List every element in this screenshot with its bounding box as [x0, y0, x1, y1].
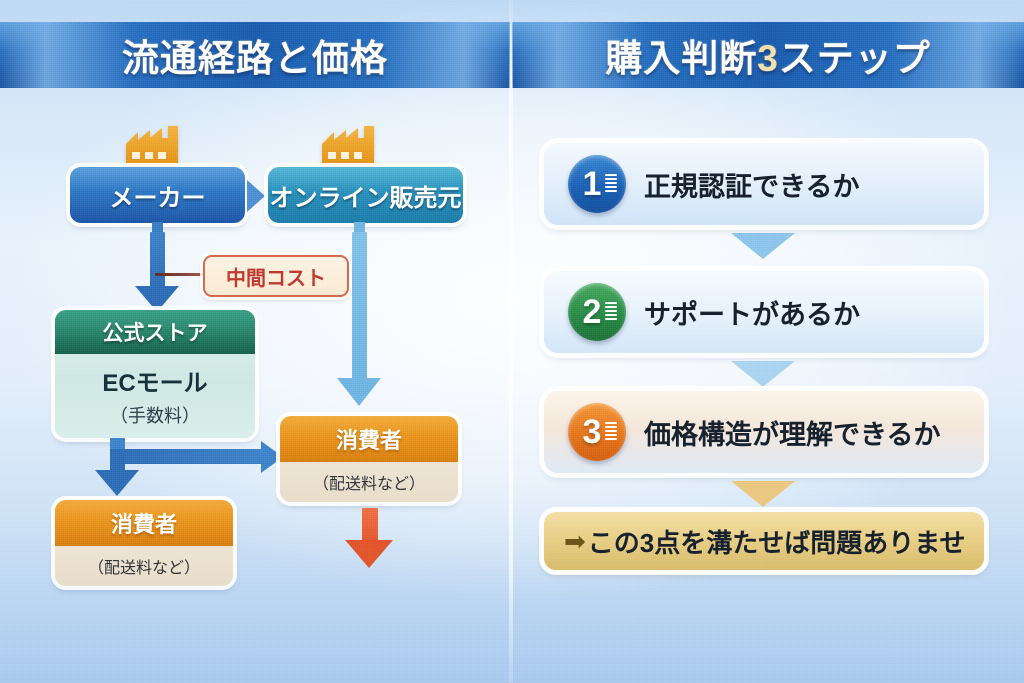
step-badge-1: 1 [568, 155, 626, 213]
step-number-3: 3 [583, 415, 602, 449]
step-connector-3 [731, 481, 795, 507]
node-online-seller[interactable]: オンライン販売元 [268, 167, 463, 223]
step-label-1: 正規認証できるか [644, 165, 859, 204]
node-consumer-online[interactable]: 消費者 （配送料など） [280, 416, 458, 502]
step-badge-2: 2 [568, 283, 626, 341]
node-ec-mall-header: 公式ストア [55, 310, 255, 354]
right-title-banner: 購入判断3ステップ [512, 22, 1024, 88]
middle-cost-chip[interactable]: 中間コスト [203, 255, 349, 297]
factory-icon [316, 124, 378, 168]
middle-cost-label: 中間コスト [226, 262, 326, 291]
node-maker-label: メーカー [70, 167, 245, 223]
step-number-1: 1 [583, 167, 602, 201]
node-consumer-online-header: 消費者 [280, 416, 458, 462]
step-connector-1 [731, 233, 795, 259]
left-title-banner: 流通経路と価格 [0, 22, 510, 88]
node-ec-mall[interactable]: 公式ストア ECモール （手数料） [55, 310, 255, 438]
arrow-maker-to-seller [247, 180, 265, 212]
node-ec-mall-main: ECモール [55, 363, 255, 398]
node-online-seller-label: オンライン販売元 [268, 167, 463, 223]
step-number-2: 2 [583, 295, 602, 329]
node-ec-mall-sub: （手数料） [55, 402, 255, 428]
step-connector-2 [731, 361, 795, 387]
middle-cost-connector [155, 273, 205, 276]
step-label-3: 価格構造が理解できるか [644, 413, 940, 452]
document-lines-icon [605, 174, 617, 192]
right-title-number: 3 [757, 38, 779, 79]
node-maker[interactable]: メーカー [70, 167, 245, 223]
step-badge-3: 3 [568, 403, 626, 461]
document-lines-icon [605, 302, 617, 320]
node-consumer-store[interactable]: 消費者 （配送料など） [55, 500, 233, 586]
panel-divider [509, 0, 513, 683]
right-title-prefix: 購入判断 [605, 38, 757, 79]
node-consumer-store-header: 消費者 [55, 500, 233, 546]
step-card-3[interactable]: 3 価格構造が理解できるか [544, 391, 984, 473]
step-label-2: サポートがあるか [644, 293, 860, 332]
summary-text: この3点を溝たせば問題ありませ [588, 523, 966, 560]
summary-banner[interactable]: ➡ この3点を溝たせば問題ありませ [544, 512, 984, 570]
node-consumer-online-sub: （配送料など） [280, 470, 458, 494]
left-panel: 流通経路と価格 メーカー オンライン販売元 [0, 0, 510, 683]
right-arrow-icon: ➡ [564, 528, 586, 554]
node-consumer-store-sub: （配送料など） [55, 554, 233, 578]
right-panel-title: 購入判断3ステップ [605, 28, 931, 82]
document-lines-icon [605, 422, 617, 440]
step-card-2[interactable]: 2 サポートがあるか [544, 271, 984, 353]
factory-icon [120, 124, 182, 168]
right-title-suffix: ステップ [779, 38, 931, 79]
step-card-1[interactable]: 1 正規認証できるか [544, 143, 984, 225]
left-panel-title: 流通経路と価格 [122, 28, 388, 82]
